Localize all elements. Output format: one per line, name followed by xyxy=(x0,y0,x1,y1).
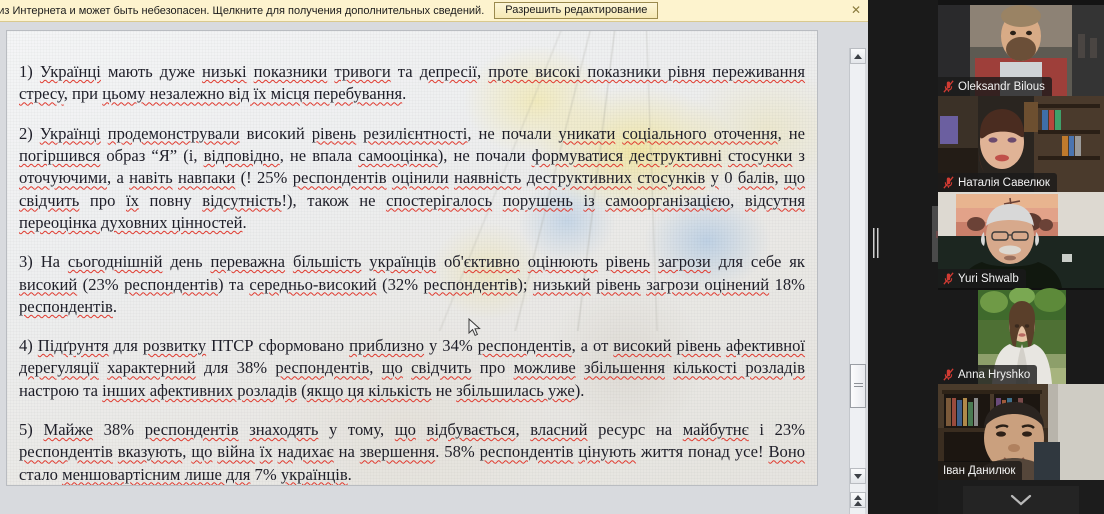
participant-name-bar: Oleksandr Bilous xyxy=(938,77,1052,96)
slide-paragraph-3: 3) На сьогоднішній день переважна більші… xyxy=(19,251,805,318)
microphone-muted-icon xyxy=(943,176,954,189)
participant-name-bar: Іван Данилюк xyxy=(938,461,1022,480)
participant-name: Yuri Shwalb xyxy=(958,273,1019,285)
document-scroll-area[interactable]: 1) Українці мають дуже низькі показники … xyxy=(0,23,868,514)
close-notification-icon[interactable]: ✕ xyxy=(851,3,861,17)
splitter-drag-handle[interactable] xyxy=(873,228,882,258)
protected-view-notification-bar: ружен из Интернета и может быть небезопа… xyxy=(0,0,868,22)
microphone-muted-icon xyxy=(943,272,954,285)
participant-tile-active-speaker[interactable]: Іван Данилюк xyxy=(938,384,1104,480)
previous-page-icon xyxy=(854,495,862,506)
shared-document-region: ружен из Интернета и может быть небезопа… xyxy=(0,0,868,514)
enable-editing-button[interactable]: Разрешить редактирование xyxy=(494,2,658,19)
slide-paragraph-2: 2) Українці продемонстрували високий рів… xyxy=(19,123,805,235)
presentation-slide: 1) Українці мають дуже низькі показники … xyxy=(6,30,818,486)
participants-video-strip: Oleksandr Bilous xyxy=(938,0,1104,514)
previous-slide-button[interactable] xyxy=(850,492,866,508)
slide-paragraph-1: 1) Українці мають дуже низькі показники … xyxy=(19,61,805,106)
participant-name-bar: Наталія Савелюк xyxy=(938,173,1057,192)
slide-paragraph-4: 4) Підґрунтя для розвитку ПТСР сформован… xyxy=(19,335,805,402)
participant-tile[interactable]: Наталія Савелюк xyxy=(938,96,1104,192)
participant-name: Anna Hryshko xyxy=(958,369,1030,381)
participant-name: Oleksandr Bilous xyxy=(958,81,1045,93)
microphone-muted-icon xyxy=(943,368,954,381)
participant-tile[interactable]: Oleksandr Bilous xyxy=(938,0,1104,96)
chevron-down-icon xyxy=(1009,493,1033,507)
participant-name-bar: Anna Hryshko xyxy=(938,365,1037,384)
participant-tile[interactable]: Anna Hryshko xyxy=(938,288,1104,384)
scroll-down-button[interactable] xyxy=(850,468,866,484)
participant-name: Наталія Савелюк xyxy=(958,177,1050,189)
scrollbar-thumb-grip xyxy=(854,383,863,389)
slide-body-text: 1) Українці мають дуже низькі показники … xyxy=(19,61,805,486)
participant-tile[interactable]: Yuri Shwalb xyxy=(938,192,1104,288)
panel-splitter[interactable] xyxy=(868,0,938,514)
meeting-screen-share-window: ружен из Интернета и может быть небезопа… xyxy=(0,0,1104,514)
scroll-up-icon xyxy=(854,54,862,59)
slide-paragraph-5: 5) Майже 38% респондентів знаходять у то… xyxy=(19,419,805,486)
document-vertical-scrollbar[interactable] xyxy=(849,48,865,514)
scroll-up-button[interactable] xyxy=(850,48,866,64)
protected-view-message: ружен из Интернета и может быть небезопа… xyxy=(0,5,484,17)
scrollbar-thumb[interactable] xyxy=(850,364,866,408)
collapse-participants-button[interactable] xyxy=(963,486,1079,514)
microphone-muted-icon xyxy=(943,80,954,93)
participant-name-bar: Yuri Shwalb xyxy=(938,269,1026,288)
participant-name: Іван Данилюк xyxy=(943,465,1015,477)
scroll-down-icon xyxy=(854,474,862,479)
